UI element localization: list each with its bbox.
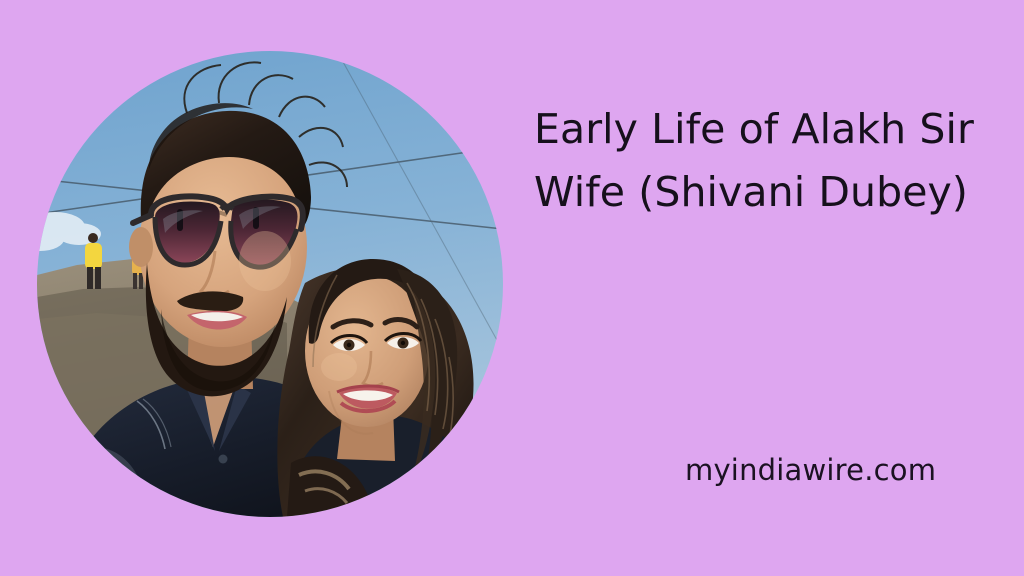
- page-title: Early Life of Alakh Sir Wife (Shivani Du…: [534, 98, 1004, 224]
- site-watermark: myindiawire.com: [685, 452, 936, 488]
- banner-canvas: Early Life of Alakh Sir Wife (Shivani Du…: [0, 0, 1024, 576]
- man-ear: [129, 227, 153, 267]
- profile-photo-circle: [37, 51, 503, 517]
- shirt-button: [216, 517, 225, 518]
- photo-illustration: [37, 51, 503, 517]
- shirt-button: [219, 455, 228, 464]
